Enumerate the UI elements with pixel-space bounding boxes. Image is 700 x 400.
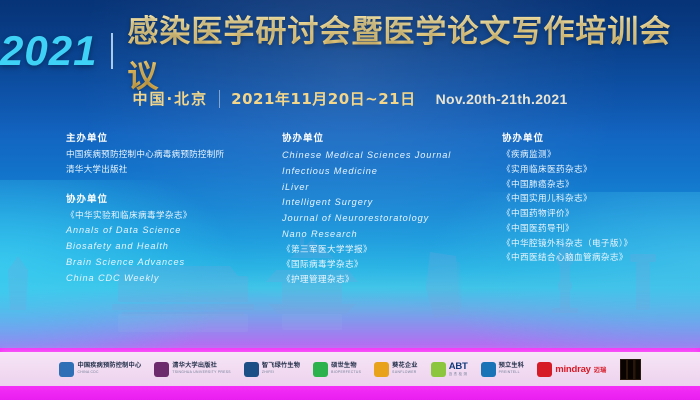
organization-item: Biosafety and Health — [66, 239, 281, 255]
sponsor-name-en: CHINA CDC — [77, 371, 141, 374]
organization-item: iLiver — [282, 180, 502, 196]
sponsor-logo-strip: 中国疾病预防控制中心CHINA CDC清华大学出版社TSINGHUA UNIVE… — [0, 352, 700, 386]
organization-item: China CDC Weekly — [66, 271, 281, 287]
title-divider — [111, 33, 113, 69]
organization-group-heading: 主办单位 — [66, 130, 281, 144]
sponsor-logo-mark-icon — [374, 362, 389, 377]
sponsor-name-en: TSINGHUA UNIVERSITY PRESS — [172, 371, 231, 374]
sponsor-name-en: 迈 杰 检 测 — [449, 373, 468, 376]
organization-item: 《护理管理杂志》 — [282, 273, 502, 288]
sponsor-name-cn: 硕世生物 — [331, 363, 361, 369]
organization-group: 协办单位《疾病监测》《实用临床医药杂志》《中国肺癌杂志》《中国实用儿科杂志》《中… — [502, 130, 692, 266]
sponsor-logo-mark-icon — [481, 362, 496, 377]
sponsor-wordmark: ABT — [449, 362, 468, 372]
sponsor-text: 中国疾病预防控制中心CHINA CDC — [77, 363, 141, 374]
organization-item: 《中国药物评价》 — [502, 207, 692, 222]
sponsor-logo: 硕世生物BIOPERFECTUS — [313, 359, 361, 379]
strip-bottom-accent — [0, 386, 700, 400]
sponsor-logo: 中国疾病预防控制中心CHINA CDC — [59, 359, 141, 379]
organization-group: 协办单位Chinese Medical Sciences JournalInfe… — [282, 130, 502, 287]
sponsor-name-cn: 智飞绿竹生物 — [262, 363, 300, 369]
organization-item: 《中国实用儿科杂志》 — [502, 192, 692, 207]
organization-item: 《中西医结合心脑血管病杂志》 — [502, 251, 692, 266]
sponsor-name-cn: 迈瑞 — [594, 365, 607, 374]
sponsor-name-en: SUNFLOWER — [392, 371, 418, 374]
organization-item: 《中华实验和临床病毒学杂志》 — [66, 209, 281, 224]
organization-item: Infectious Medicine — [282, 164, 502, 180]
organization-item: 《实用临床医药杂志》 — [502, 163, 692, 178]
sponsor-name-en: ZHIFEI — [262, 371, 300, 374]
organizations-columns: 主办单位中国疾病预防控制中心病毒病预防控制所清华大学出版社协办单位《中华实验和临… — [0, 130, 700, 280]
meta-divider — [219, 90, 220, 108]
organization-item: 《国际病毒学杂志》 — [282, 258, 502, 273]
sponsor-name-cn: 预立生科 — [499, 363, 525, 369]
organization-group: 协办单位《中华实验和临床病毒学杂志》Annals of Data Science… — [66, 191, 281, 287]
date-text-cn: 2021年11月20日~21日 — [231, 88, 415, 109]
sponsor-wordmark: mindray — [555, 364, 591, 375]
organization-group-heading: 协办单位 — [282, 130, 502, 144]
sponsor-logo: 智飞绿竹生物ZHIFEI — [244, 359, 300, 379]
sponsor-logo: 清华大学出版社TSINGHUA UNIVERSITY PRESS — [154, 359, 231, 379]
sponsor-text: 硕世生物BIOPERFECTUS — [331, 363, 361, 374]
year-text: 2021 — [0, 27, 97, 75]
sponsor-logo-mark-icon — [431, 362, 446, 377]
sponsor-logo-mark-icon — [59, 362, 74, 377]
organization-item: 《中华腔镜外科杂志（电子版）》 — [502, 237, 692, 252]
sponsor-logo: 预立生科PREINTELL — [481, 359, 525, 379]
sponsor-logo — [620, 359, 641, 379]
organizations-column-right: 协办单位《疾病监测》《实用临床医药杂志》《中国肺癌杂志》《中国实用儿科杂志》《中… — [502, 130, 692, 279]
sponsor-logo: ABT迈 杰 检 测 — [431, 359, 468, 379]
organization-item: Annals of Data Science — [66, 223, 281, 239]
sponsor-logo-mark-icon — [244, 362, 259, 377]
organization-group-heading: 协办单位 — [502, 130, 692, 144]
organization-item: 《中国医药导刊》 — [502, 222, 692, 237]
sponsor-logo-mark-icon — [537, 362, 552, 377]
sponsor-text: 葵花企业SUNFLOWER — [392, 363, 418, 374]
sponsor-text: 智飞绿竹生物ZHIFEI — [262, 363, 300, 374]
organization-item: Nano Research — [282, 227, 502, 243]
sponsor-logo: 葵花企业SUNFLOWER — [374, 359, 418, 379]
organization-item: 《疾病监测》 — [502, 148, 692, 163]
sponsor-text: 清华大学出版社TSINGHUA UNIVERSITY PRESS — [172, 363, 231, 374]
banner-header: 2021 感染医学研讨会暨医学论文写作培训会议 中国·北京 2021年11月20… — [0, 26, 700, 114]
sponsor-text: 预立生科PREINTELL — [499, 363, 525, 374]
organization-group: 主办单位中国疾病预防控制中心病毒病预防控制所清华大学出版社 — [66, 130, 281, 178]
sponsor-name-en: PREINTELL — [499, 371, 525, 374]
organization-item: 清华大学出版社 — [66, 163, 281, 178]
location-text: 中国·北京 — [132, 88, 208, 109]
date-text-en: Nov.20th-21th.2021 — [436, 91, 568, 107]
organization-item: 《中国肺癌杂志》 — [502, 178, 692, 193]
organization-group-heading: 协办单位 — [66, 191, 281, 205]
sponsor-name-cn: 清华大学出版社 — [172, 363, 231, 369]
organization-item: Journal of Neurorestoratology — [282, 211, 502, 227]
qr-code-icon — [620, 359, 641, 380]
conference-banner: 2021 感染医学研讨会暨医学论文写作培训会议 中国·北京 2021年11月20… — [0, 0, 700, 400]
organization-item: Chinese Medical Sciences Journal — [282, 148, 502, 164]
sponsor-logo-mark-icon — [154, 362, 169, 377]
organization-item: Brain Science Advances — [66, 255, 281, 271]
organizations-column-left: 主办单位中国疾病预防控制中心病毒病预防控制所清华大学出版社协办单位《中华实验和临… — [66, 130, 281, 300]
organization-item: 中国疾病预防控制中心病毒病预防控制所 — [66, 148, 281, 163]
sponsor-text: ABT迈 杰 检 测 — [449, 362, 468, 376]
organization-item: 《第三军医大学学报》 — [282, 243, 502, 258]
organizations-column-middle: 协办单位Chinese Medical Sciences JournalInfe… — [282, 130, 502, 300]
title-row: 2021 感染医学研讨会暨医学论文写作培训会议 — [0, 26, 700, 76]
conference-title: 感染医学研讨会暨医学论文写作培训会议 — [127, 6, 700, 96]
sponsor-logo: mindray迈瑞 — [537, 359, 606, 379]
sponsor-logo-mark-icon — [313, 362, 328, 377]
sponsor-name-cn: 葵花企业 — [392, 363, 418, 369]
sponsor-name-en: BIOPERFECTUS — [331, 371, 361, 374]
organization-item: Intelligent Surgery — [282, 195, 502, 211]
sponsor-name-cn: 中国疾病预防控制中心 — [77, 363, 141, 369]
